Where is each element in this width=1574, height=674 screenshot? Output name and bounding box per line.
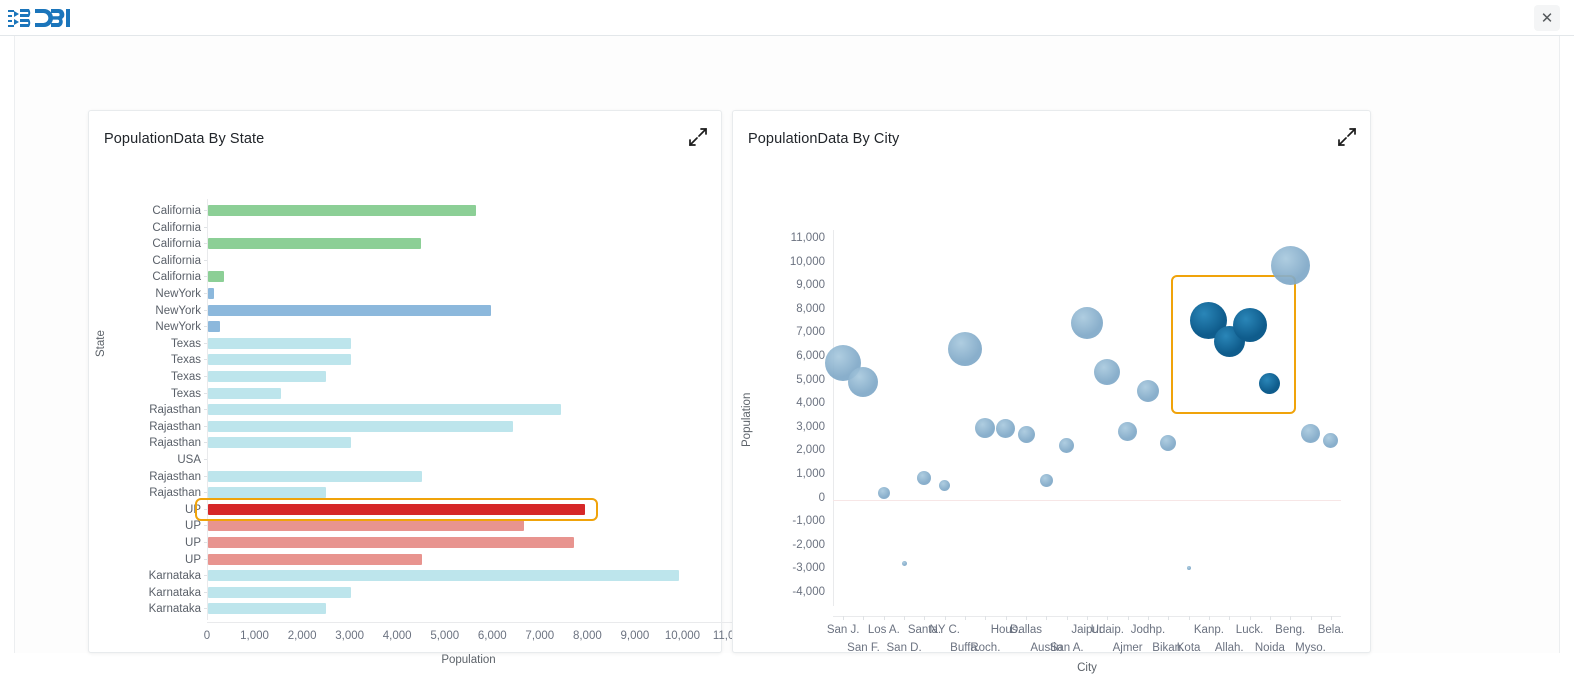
bubble-point[interactable] — [917, 471, 931, 485]
bar-y-tick — [204, 293, 207, 294]
bubble-y-tick-label: 6,000 — [755, 350, 825, 362]
bubble-x-tick — [924, 616, 925, 620]
bar-category-label: Karnataka — [99, 603, 201, 615]
bar-y-tick — [204, 409, 207, 410]
bubble-point[interactable] — [1323, 433, 1338, 448]
bubble-x-tick-label: Jodhp. — [1114, 624, 1182, 636]
bar-category-label: UP — [99, 554, 201, 566]
bubble-point[interactable] — [1118, 422, 1137, 441]
bar[interactable] — [208, 288, 214, 299]
bar-y-tick — [204, 227, 207, 228]
bubble-point[interactable] — [848, 367, 878, 397]
bar-y-tick — [204, 542, 207, 543]
bar-y-axis-title: State — [95, 330, 107, 357]
bar[interactable] — [208, 570, 679, 581]
bar[interactable] — [208, 421, 513, 432]
bubble-point[interactable] — [1187, 566, 1191, 570]
bar-chart-plot: CaliforniaCaliforniaCaliforniaCalifornia… — [89, 111, 723, 654]
bar-category-label: UP — [99, 520, 201, 532]
bubble-point[interactable] — [996, 419, 1015, 438]
bar-category-label: California — [99, 205, 201, 217]
bubble-x-tick — [1168, 616, 1169, 620]
chart-card-population-by-state: PopulationData By State CaliforniaCalifo… — [88, 110, 722, 653]
bar-y-tick — [204, 426, 207, 427]
bubble-x-tick — [1311, 616, 1312, 620]
bdb-logo[interactable] — [6, 6, 74, 30]
bar-y-tick — [204, 359, 207, 360]
bar-category-label: California — [99, 271, 201, 283]
bar[interactable] — [208, 537, 574, 548]
bubble-x-tick — [1046, 616, 1047, 620]
bar-category-label: NewYork — [99, 288, 201, 300]
bar-category-label: Texas — [99, 338, 201, 350]
bubble-point[interactable] — [1160, 435, 1176, 451]
bubble-x-tick — [1209, 616, 1210, 620]
bar-category-label: California — [99, 255, 201, 267]
bubble-y-tick-label: -4,000 — [755, 586, 825, 598]
bar-y-tick — [204, 326, 207, 327]
bar-category-label: NewYork — [99, 305, 201, 317]
bubble-x-tick — [1290, 616, 1291, 620]
dashboard-canvas: PopulationData By State CaliforniaCalifo… — [14, 36, 1560, 653]
bar-category-label: California — [99, 238, 201, 250]
bar-y-tick — [204, 459, 207, 460]
bar-category-label: Rajasthan — [99, 487, 201, 499]
bubble-y-tick-label: 1,000 — [755, 468, 825, 480]
bar[interactable] — [208, 238, 421, 249]
bubble-y-tick-label: -1,000 — [755, 515, 825, 527]
bubble-y-tick-label: 2,000 — [755, 444, 825, 456]
bar[interactable] — [208, 520, 524, 531]
bar[interactable] — [208, 388, 281, 399]
bar-y-tick — [204, 608, 207, 609]
bubble-x-tick — [904, 616, 905, 620]
bar[interactable] — [208, 471, 422, 482]
bubble-point-selected[interactable] — [1259, 373, 1280, 394]
bubble-x-tick — [1128, 616, 1129, 620]
bar-y-tick — [204, 243, 207, 244]
bar-category-label: Karnataka — [99, 587, 201, 599]
bar-y-tick — [204, 310, 207, 311]
bar-category-label: USA — [99, 454, 201, 466]
bubble-x-tick — [1087, 616, 1088, 620]
chart-card-population-by-city: PopulationData By City 11,00010,0009,000… — [732, 110, 1371, 653]
bar-category-label: Karnataka — [99, 570, 201, 582]
bar-y-tick — [204, 343, 207, 344]
bar-category-label: NewYork — [99, 321, 201, 333]
bubble-y-tick-label: 4,000 — [755, 397, 825, 409]
bubble-y-tick-label: 8,000 — [755, 303, 825, 315]
bar-y-tick — [204, 376, 207, 377]
bar-x-axis-line — [207, 622, 735, 623]
bubble-y-tick-label: 10,000 — [755, 256, 825, 268]
bar[interactable] — [208, 587, 351, 598]
bubble-point[interactable] — [1094, 359, 1120, 385]
bubble-x-tick — [843, 616, 844, 620]
bar-y-tick — [204, 393, 207, 394]
bubble-point[interactable] — [1271, 246, 1310, 285]
bar-y-tick — [204, 492, 207, 493]
bubble-point[interactable] — [878, 487, 890, 499]
bar-category-label: California — [99, 222, 201, 234]
bar[interactable] — [208, 404, 561, 415]
bubble-x-tick-label: Bela. — [1297, 624, 1365, 636]
bubble-x-axis-title: City — [833, 662, 1341, 674]
bubble-y-tick-label: -3,000 — [755, 562, 825, 574]
bubble-x-tick — [1270, 616, 1271, 620]
bar-category-label: Texas — [99, 388, 201, 400]
bubble-x-tick — [1026, 616, 1027, 620]
bubble-point[interactable] — [1018, 426, 1035, 443]
bubble-x-tick — [1189, 616, 1190, 620]
bubble-y-axis-line — [833, 230, 834, 606]
bar-x-axis-title: Population — [207, 654, 730, 666]
bubble-point[interactable] — [975, 418, 995, 438]
bubble-point[interactable] — [1059, 438, 1074, 453]
bubble-x-tick-label: San A. — [1033, 642, 1101, 654]
bar-selected[interactable] — [208, 504, 585, 515]
bar-y-tick — [204, 476, 207, 477]
bar-y-tick — [204, 559, 207, 560]
bubble-x-tick — [1250, 616, 1251, 620]
bar[interactable] — [208, 271, 224, 282]
bubble-point[interactable] — [902, 561, 907, 566]
bar-y-tick — [204, 260, 207, 261]
bar-category-label: Texas — [99, 354, 201, 366]
bar-category-label: Texas — [99, 371, 201, 383]
bubble-y-tick-label: 11,000 — [755, 232, 825, 244]
bar-category-label: UP — [99, 537, 201, 549]
bubble-x-tick — [1229, 616, 1230, 620]
bubble-y-tick-label: 7,000 — [755, 326, 825, 338]
close-icon[interactable]: ✕ — [1534, 5, 1560, 31]
bar-y-tick — [204, 525, 207, 526]
bubble-point[interactable] — [1137, 380, 1159, 402]
bubble-x-tick — [884, 616, 885, 620]
bar-y-tick — [204, 442, 207, 443]
bar-category-label: Rajasthan — [99, 471, 201, 483]
bar-category-label: UP — [99, 504, 201, 516]
bubble-zero-line — [833, 500, 1341, 501]
bar-y-tick — [204, 509, 207, 510]
bubble-point[interactable] — [1301, 424, 1320, 443]
bubble-point-selected[interactable] — [1233, 308, 1267, 342]
bdb-logo-mark — [6, 6, 74, 30]
bar[interactable] — [208, 338, 351, 349]
bubble-x-tick-label: Myso. — [1277, 642, 1345, 654]
bar[interactable] — [208, 371, 326, 382]
bubble-point[interactable] — [1071, 307, 1103, 339]
bubble-x-tick-label: San D. — [870, 642, 938, 654]
bar[interactable] — [208, 603, 326, 614]
bubble-x-tick — [863, 616, 864, 620]
bubble-y-tick-label: 0 — [755, 492, 825, 504]
bubble-y-tick-label: -2,000 — [755, 539, 825, 551]
bubble-y-tick-label: 3,000 — [755, 421, 825, 433]
bar-category-label: Rajasthan — [99, 421, 201, 433]
bubble-x-tick-label: NY C. — [911, 624, 979, 636]
bar[interactable] — [208, 321, 220, 332]
bubble-x-tick-label: Dallas — [992, 624, 1060, 636]
bar-y-tick — [204, 592, 207, 593]
bar[interactable] — [208, 354, 351, 365]
bar[interactable] — [208, 437, 351, 448]
bubble-point[interactable] — [939, 480, 950, 491]
bar[interactable] — [208, 205, 476, 216]
top-bar: ✕ — [0, 0, 1574, 36]
bar[interactable] — [208, 554, 422, 565]
bubble-x-tick — [1067, 616, 1068, 620]
bubble-x-tick — [1331, 616, 1332, 620]
bar-y-tick — [204, 575, 207, 576]
bar-y-tick — [204, 276, 207, 277]
bubble-point[interactable] — [1040, 474, 1053, 487]
bubble-chart-plot: 11,00010,0009,0008,0007,0006,0005,0004,0… — [733, 111, 1372, 654]
bar-category-label: Rajasthan — [99, 437, 201, 449]
bubble-y-axis-title: Population — [741, 393, 753, 447]
bubble-x-tick — [985, 616, 986, 620]
bar-category-label: Rajasthan — [99, 404, 201, 416]
bubble-y-tick-label: 9,000 — [755, 279, 825, 291]
bubble-x-tick — [1107, 616, 1108, 620]
bubble-x-tick — [1148, 616, 1149, 620]
bubble-x-tick — [965, 616, 966, 620]
bar-y-tick — [204, 210, 207, 211]
bubble-y-tick-label: 5,000 — [755, 374, 825, 386]
bubble-point[interactable] — [948, 332, 982, 366]
bar[interactable] — [208, 487, 326, 498]
bubble-x-tick-label: Roch. — [951, 642, 1019, 654]
bubble-x-tick — [945, 616, 946, 620]
bar[interactable] — [208, 305, 491, 316]
bubble-x-tick — [1006, 616, 1007, 620]
